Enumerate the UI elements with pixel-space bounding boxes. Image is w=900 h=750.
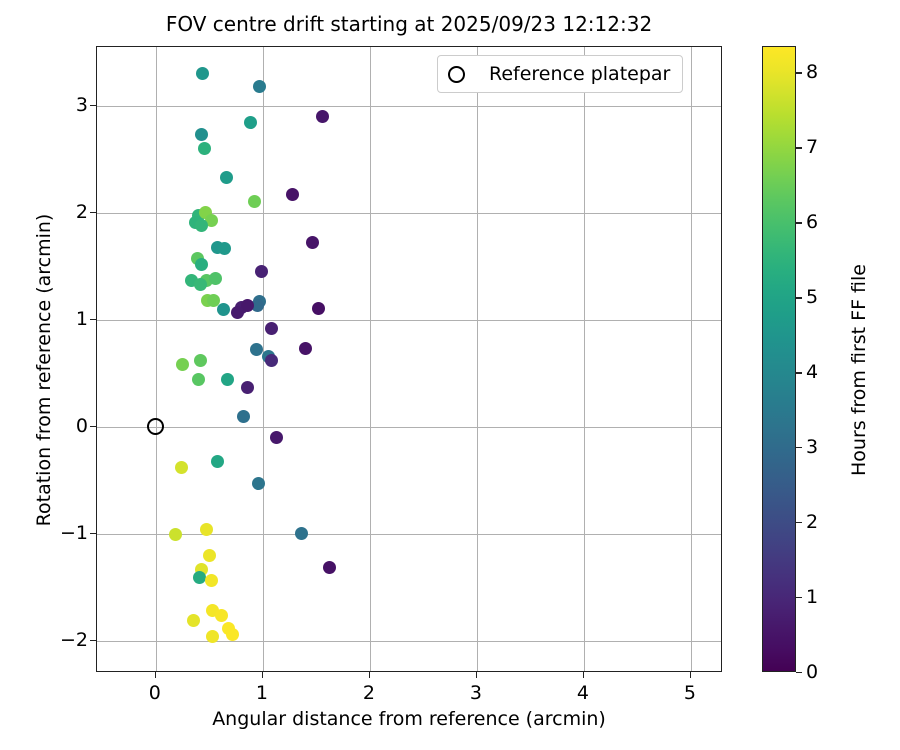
scatter-point bbox=[195, 128, 208, 141]
scatter-point bbox=[169, 528, 182, 541]
gridline-horizontal bbox=[97, 106, 721, 107]
gridline-vertical bbox=[156, 47, 157, 671]
colorbar-tick-label: 4 bbox=[806, 361, 818, 383]
scatter-point bbox=[241, 381, 254, 394]
scatter-point bbox=[248, 195, 261, 208]
scatter-point bbox=[255, 265, 268, 278]
y-tick-label: 3 bbox=[40, 94, 88, 116]
scatter-point bbox=[220, 171, 233, 184]
scatter-point bbox=[231, 306, 244, 319]
y-tick-mark bbox=[90, 426, 96, 427]
scatter-point bbox=[226, 628, 239, 641]
x-tick-mark bbox=[690, 672, 691, 678]
x-axis-label: Angular distance from reference (arcmin) bbox=[96, 708, 722, 730]
x-tick-label: 0 bbox=[149, 682, 161, 704]
colorbar-tick-mark bbox=[796, 522, 802, 523]
reference-platepar-marker-icon bbox=[448, 66, 465, 83]
gridline-horizontal bbox=[97, 213, 721, 214]
scatter-point bbox=[253, 80, 266, 93]
scatter-point bbox=[200, 523, 213, 536]
colorbar-tick-mark bbox=[796, 297, 802, 298]
colorbar-tick-label: 6 bbox=[806, 211, 818, 233]
reference-platepar-point bbox=[147, 418, 164, 435]
gridline-vertical bbox=[477, 47, 478, 671]
colorbar-tick-label: 8 bbox=[806, 61, 818, 83]
x-tick-mark bbox=[369, 672, 370, 678]
scatter-point bbox=[209, 272, 222, 285]
y-tick-label: 0 bbox=[40, 415, 88, 437]
y-tick-mark bbox=[90, 212, 96, 213]
y-tick-mark bbox=[90, 105, 96, 106]
scatter-point bbox=[306, 236, 319, 249]
scatter-point bbox=[237, 410, 250, 423]
scatter-point bbox=[316, 110, 329, 123]
gridline-horizontal bbox=[97, 534, 721, 535]
scatter-point bbox=[194, 278, 207, 291]
colorbar-label: Hours from first FF file bbox=[848, 57, 870, 683]
scatter-point bbox=[176, 358, 189, 371]
x-tick-label: 5 bbox=[684, 682, 696, 704]
colorbar-tick-mark bbox=[796, 72, 802, 73]
gridline-horizontal bbox=[97, 641, 721, 642]
colorbar-tick-mark bbox=[796, 372, 802, 373]
scatter-point bbox=[205, 574, 218, 587]
scatter-point bbox=[194, 354, 207, 367]
y-tick-label: −2 bbox=[40, 629, 88, 651]
x-tick-label: 3 bbox=[470, 682, 482, 704]
y-tick-mark bbox=[90, 319, 96, 320]
gridline-vertical bbox=[584, 47, 585, 671]
scatter-point bbox=[265, 354, 278, 367]
plot-area[interactable] bbox=[96, 46, 722, 672]
scatter-point bbox=[217, 303, 230, 316]
y-tick-label: 2 bbox=[40, 201, 88, 223]
scatter-point bbox=[211, 455, 224, 468]
x-tick-mark bbox=[262, 672, 263, 678]
colorbar-tick-label: 3 bbox=[806, 436, 818, 458]
scatter-point bbox=[265, 322, 278, 335]
x-tick-label: 4 bbox=[577, 682, 589, 704]
colorbar-tick-mark bbox=[796, 447, 802, 448]
colorbar-tick-label: 5 bbox=[806, 286, 818, 308]
scatter-point bbox=[195, 258, 208, 271]
y-tick-mark bbox=[90, 640, 96, 641]
scatter-point bbox=[323, 561, 336, 574]
scatter-point bbox=[299, 342, 312, 355]
scatter-point bbox=[312, 302, 325, 315]
colorbar-tick-label: 1 bbox=[806, 586, 818, 608]
x-tick-mark bbox=[583, 672, 584, 678]
gridline-vertical bbox=[370, 47, 371, 671]
scatter-point bbox=[295, 527, 308, 540]
x-tick-label: 1 bbox=[256, 682, 268, 704]
scatter-point bbox=[175, 461, 188, 474]
scatter-point bbox=[195, 219, 208, 232]
scatter-point bbox=[187, 614, 200, 627]
scatter-point bbox=[215, 609, 228, 622]
chart-title: FOV centre drift starting at 2025/09/23 … bbox=[96, 12, 722, 36]
scatter-point bbox=[196, 67, 209, 80]
scatter-point bbox=[221, 373, 234, 386]
x-tick-mark bbox=[476, 672, 477, 678]
y-tick-label: 1 bbox=[40, 308, 88, 330]
scatter-point bbox=[218, 242, 231, 255]
scatter-point bbox=[286, 188, 299, 201]
colorbar-tick-mark bbox=[796, 147, 802, 148]
scatter-point bbox=[198, 142, 211, 155]
colorbar-tick-mark bbox=[796, 222, 802, 223]
gridline-horizontal bbox=[97, 320, 721, 321]
colorbar-tick-mark bbox=[796, 672, 802, 673]
legend-label-reference-platepar: Reference platepar bbox=[489, 63, 670, 85]
colorbar-tick-label: 0 bbox=[806, 661, 818, 683]
scatter-point bbox=[192, 373, 205, 386]
legend: Reference platepar bbox=[437, 55, 683, 93]
gridline-vertical bbox=[691, 47, 692, 671]
colorbar[interactable] bbox=[762, 46, 796, 672]
gridline-horizontal bbox=[97, 427, 721, 428]
colorbar-tick-label: 7 bbox=[806, 136, 818, 158]
scatter-point bbox=[270, 431, 283, 444]
y-tick-label: −1 bbox=[40, 522, 88, 544]
colorbar-tick-label: 2 bbox=[806, 511, 818, 533]
x-tick-label: 2 bbox=[363, 682, 375, 704]
scatter-point bbox=[203, 549, 216, 562]
scatter-point bbox=[244, 116, 257, 129]
scatter-point bbox=[250, 343, 263, 356]
figure-canvas: FOV centre drift starting at 2025/09/23 … bbox=[0, 0, 900, 750]
y-axis-label: Rotation from reference (arcmin) bbox=[33, 57, 55, 683]
y-tick-mark bbox=[90, 533, 96, 534]
x-tick-mark bbox=[155, 672, 156, 678]
colorbar-tick-mark bbox=[796, 597, 802, 598]
